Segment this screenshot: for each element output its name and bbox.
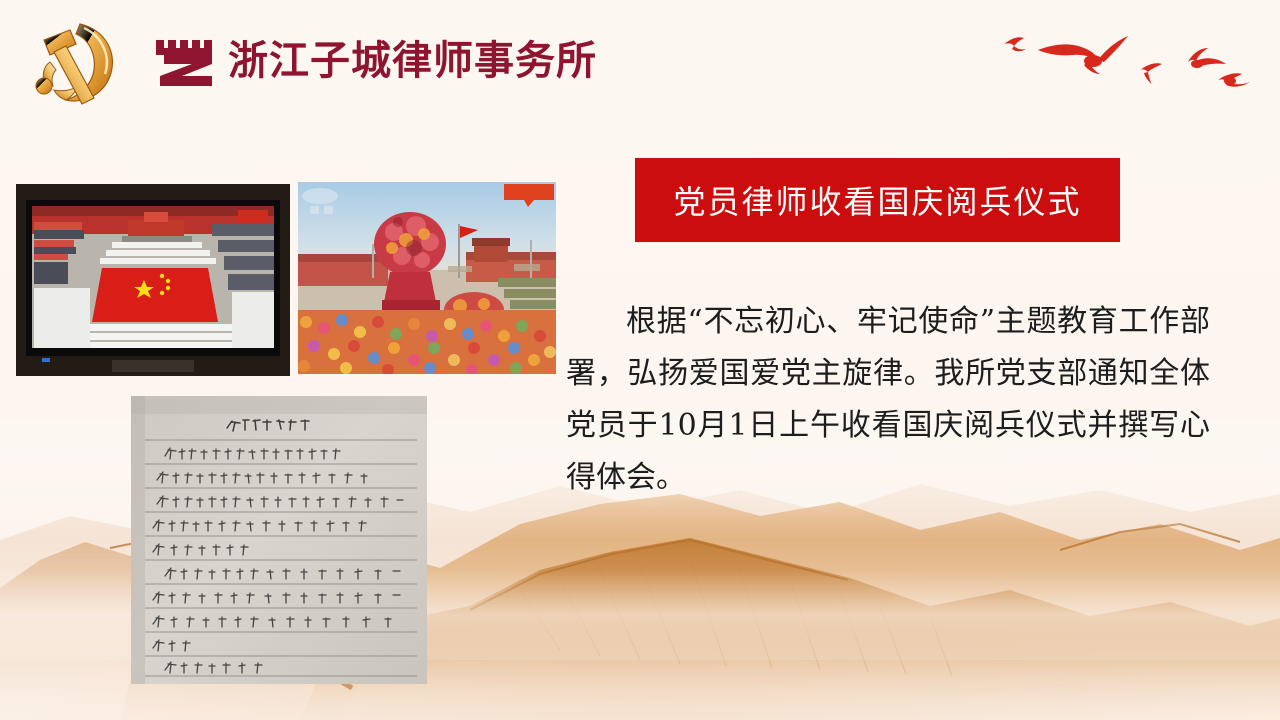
photo-parade-tv (16, 184, 290, 376)
body-paragraph: 根据“不忘初心、牢记使命”主题教育工作部署，弘扬爱国爱党主旋律。我所党支部通知全… (566, 296, 1210, 504)
firm-name-title: 浙江子城律师事务所 (228, 34, 597, 88)
photo-tiananmen-square (298, 182, 556, 374)
party-emblem-icon (14, 10, 134, 110)
slide-canvas: 浙江子城律师事务所 (0, 0, 1280, 720)
firm-logo-mark-icon (152, 36, 220, 90)
photo-handwritten-notes (131, 396, 427, 684)
live-badge (238, 210, 268, 222)
flying-birds-decoration (992, 22, 1262, 112)
title-banner: 党员律师收看国庆阅兵仪式 (635, 158, 1120, 242)
title-text: 党员律师收看国庆阅兵仪式 (673, 177, 1081, 223)
